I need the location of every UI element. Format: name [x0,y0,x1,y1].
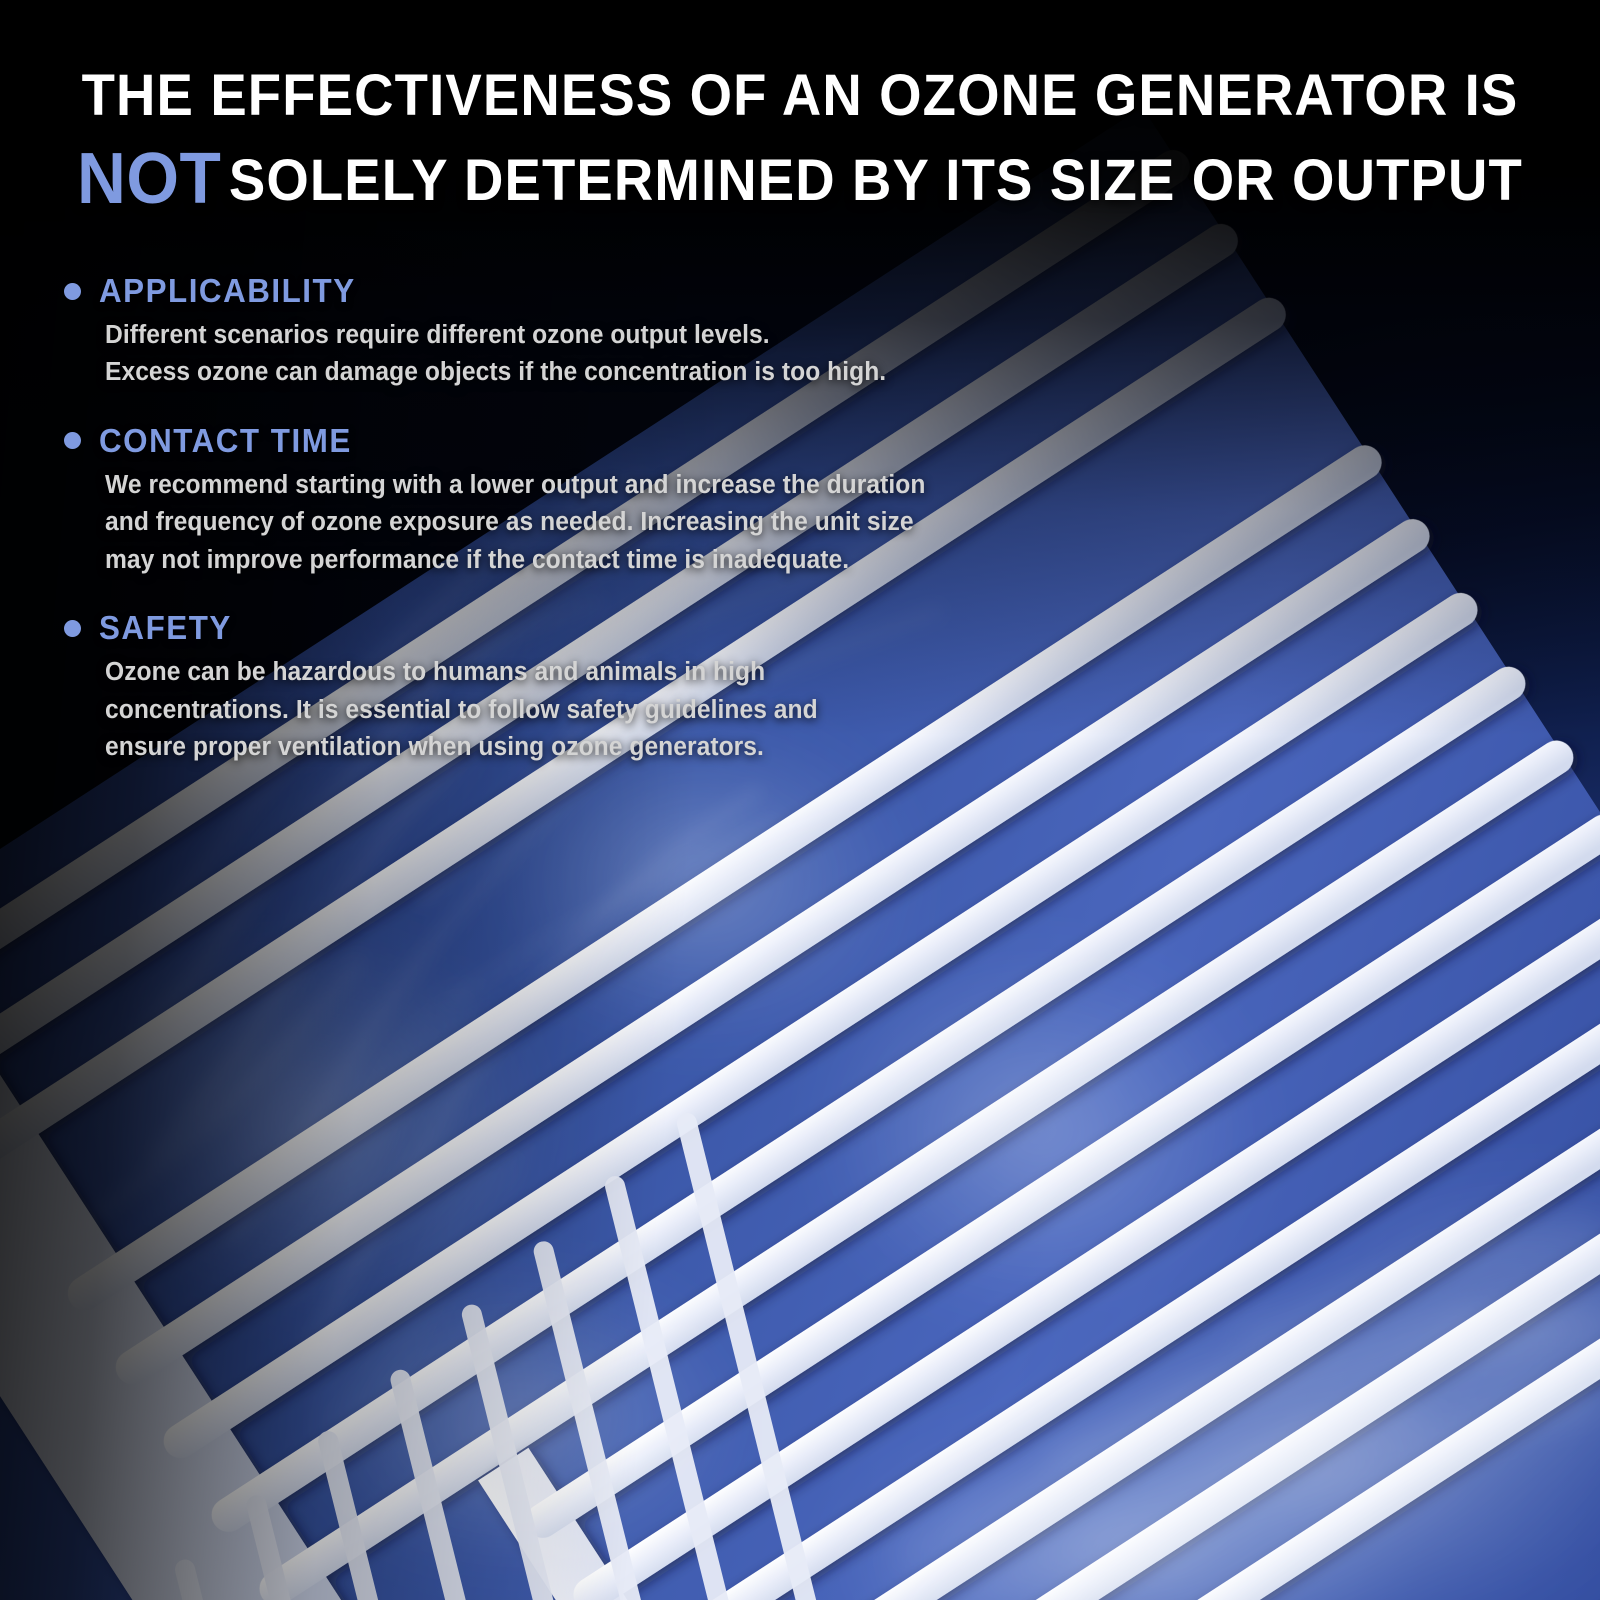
section-body-contact-time: We recommend starting with a lower outpu… [105,467,1179,579]
section-title-contact-time: CONTACT TIME [99,422,352,460]
section-body-safety: Ozone can be hazardous to humans and ani… [105,654,1179,766]
infographic-poster: THE EFFECTIVENESS OF AN OZONE GENERATOR … [0,0,1600,1600]
body-line: Ozone can be hazardous to humans and ani… [105,654,1179,691]
title-highlight-not: NOT [77,139,229,219]
body-line: concentrations. It is essential to follo… [105,692,1179,729]
body-line: Different scenarios require different oz… [105,317,1179,354]
poster-title: THE EFFECTIVENESS OF AN OZONE GENERATOR … [0,58,1600,227]
section-heading-row: APPLICABILITY [58,272,1218,310]
bullet-dot-icon [64,620,81,637]
section-safety: SAFETY Ozone can be hazardous to humans … [58,609,1218,766]
section-heading-row: SAFETY [58,609,1218,647]
bullet-dot-icon [64,432,81,449]
body-line: and frequency of ozone exposure as neede… [105,504,1179,541]
title-line-1: THE EFFECTIVENESS OF AN OZONE GENERATOR … [48,58,1552,133]
bullet-dot-icon [64,283,81,300]
body-line: ensure proper ventilation when using ozo… [105,729,1179,766]
title-line-2: NOTSOLELY DETERMINED BY ITS SIZE OR OUTP… [48,133,1552,227]
body-line: Excess ozone can damage objects if the c… [105,354,1179,391]
section-body-applicability: Different scenarios require different oz… [105,317,1179,392]
poster-content: THE EFFECTIVENESS OF AN OZONE GENERATOR … [0,0,1600,1600]
section-title-applicability: APPLICABILITY [99,272,356,310]
section-title-safety: SAFETY [99,609,232,647]
body-line: may not improve performance if the conta… [105,542,1179,579]
section-heading-row: CONTACT TIME [58,422,1218,460]
title-line-2-rest: SOLELY DETERMINED BY ITS SIZE OR OUTPUT [229,148,1523,213]
body-line: We recommend starting with a lower outpu… [105,467,1179,504]
section-applicability: APPLICABILITY Different scenarios requir… [58,272,1218,392]
bullet-sections: APPLICABILITY Different scenarios requir… [58,272,1218,797]
section-contact-time: CONTACT TIME We recommend starting with … [58,422,1218,579]
